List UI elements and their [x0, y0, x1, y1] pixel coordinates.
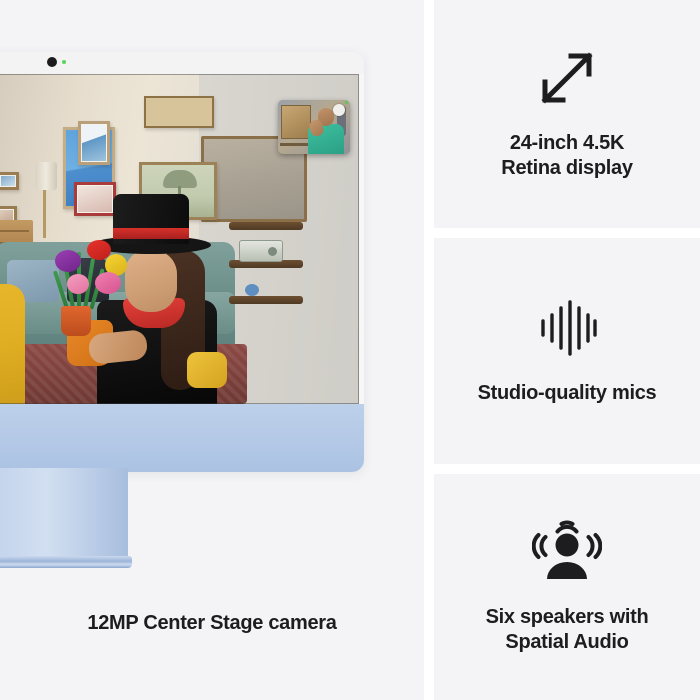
blue-decor-object	[245, 284, 259, 296]
feature-panels-column: 24-inch 4.5K Retina display Studi	[434, 0, 700, 700]
flower-pot	[61, 306, 91, 336]
flower-pink-2	[67, 274, 89, 294]
imac-chin	[0, 404, 364, 472]
imac-screen	[0, 74, 359, 404]
feature-label-speakers: Six speakers with Spatial Audio	[486, 605, 649, 655]
framed-picture-thin	[78, 121, 110, 165]
feature-grid-page: 12MP Center Stage camera 24-inch 4.5K Re…	[0, 0, 700, 700]
expand-arrows-icon	[536, 47, 598, 109]
pip-indicator-light	[345, 101, 348, 104]
feature-panel-speakers[interactable]: Six speakers with Spatial Audio	[434, 474, 700, 700]
woman-clapping	[0, 222, 49, 404]
camera-caption: 12MP Center Stage camera	[0, 612, 424, 635]
picture-in-picture-tile[interactable]	[278, 100, 350, 154]
camera-indicator-light	[62, 60, 66, 64]
flower-pink	[95, 272, 121, 294]
feature-label-mics: Studio-quality mics	[478, 381, 657, 406]
flower-purple	[55, 250, 81, 272]
feature-panel-mics[interactable]: Studio-quality mics	[434, 238, 700, 464]
facetime-scene	[0, 74, 359, 404]
imac-hero-panel: 12MP Center Stage camera	[0, 0, 424, 700]
imac-stand-neck	[0, 468, 128, 560]
feature-label-display: 24-inch 4.5K Retina display	[501, 131, 632, 181]
wall-shelf-3	[229, 296, 303, 304]
girl-magician	[91, 192, 231, 404]
vintage-radio	[239, 240, 283, 262]
audio-waveform-icon	[536, 297, 598, 359]
spatial-audio-person-icon	[532, 519, 602, 583]
floor-lamp-shade	[35, 162, 57, 190]
pip-round-button[interactable]	[333, 104, 345, 116]
imac-stand-foot	[0, 556, 132, 568]
framed-picture-small-1	[0, 172, 19, 190]
front-camera-icon	[47, 57, 57, 67]
imac-device	[0, 52, 364, 472]
wall-shelf-1	[229, 222, 303, 230]
feature-panel-display[interactable]: 24-inch 4.5K Retina display	[434, 0, 700, 228]
framed-map	[144, 96, 214, 128]
